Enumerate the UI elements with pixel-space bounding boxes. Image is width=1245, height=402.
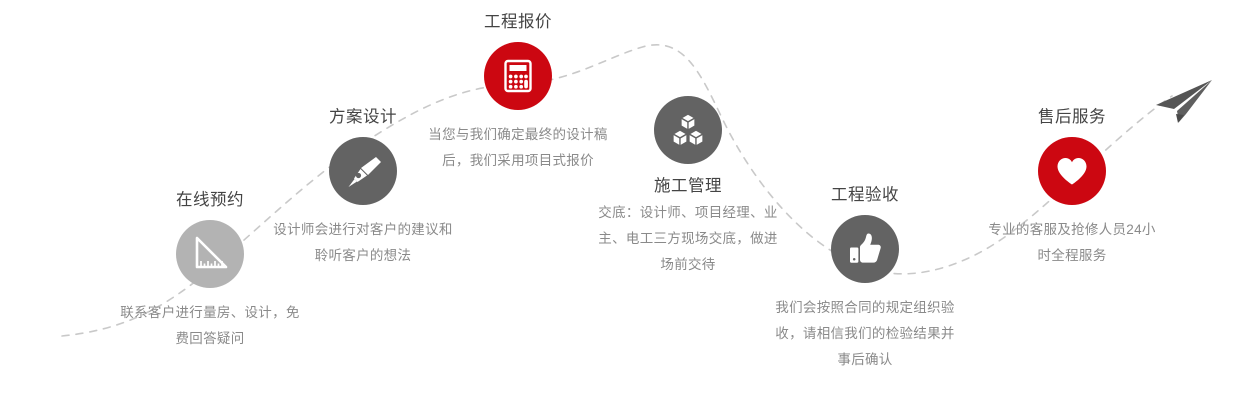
step-3-title: 工程报价 xyxy=(428,12,608,32)
step-2[interactable]: 方案设计 设计师会进行对客户的建议和聆听客户的想法 xyxy=(273,107,453,269)
step-1-icon-circle[interactable] xyxy=(176,220,244,288)
boxes-icon xyxy=(668,110,708,150)
step-5-title: 工程验收 xyxy=(775,185,955,205)
step-4-icon-circle[interactable] xyxy=(654,96,722,164)
step-5-desc: 我们会按照合同的规定组织验收，请相信我们的检验结果并事后确认 xyxy=(775,295,955,373)
step-3[interactable]: 工程报价 xyxy=(428,12,608,174)
step-5-icon-circle[interactable] xyxy=(831,215,899,283)
step-4-desc: 交底：设计师、项目经理、业主、电工三方现场交底，做进场前交待 xyxy=(598,200,778,278)
heart-icon xyxy=(1052,151,1092,191)
step-4[interactable]: 施工管理 交底：设计师、项目经理、业主、电工三方现场交底，做进场前交待 xyxy=(598,96,778,278)
step-4-title: 施工管理 xyxy=(598,176,778,196)
step-6[interactable]: 售后服务 专业的客服及抢修人员24小时全程服务 xyxy=(982,107,1162,269)
process-flow-diagram: 在线预约 联系客户进行量房、设计，免费回答疑问 方案设计 xyxy=(0,0,1245,402)
pen-nib-icon xyxy=(343,151,383,191)
calculator-icon xyxy=(498,56,538,96)
step-3-icon-circle[interactable] xyxy=(484,42,552,110)
thumbs-up-icon xyxy=(845,229,885,269)
ruler-triangle-icon xyxy=(190,234,230,274)
step-6-icon-circle[interactable] xyxy=(1038,137,1106,205)
step-2-title: 方案设计 xyxy=(273,107,453,127)
step-2-icon-circle[interactable] xyxy=(329,137,397,205)
step-2-desc: 设计师会进行对客户的建议和聆听客户的想法 xyxy=(273,217,453,269)
step-1-desc: 联系客户进行量房、设计，免费回答疑问 xyxy=(120,300,300,352)
step-6-desc: 专业的客服及抢修人员24小时全程服务 xyxy=(982,217,1162,269)
step-6-title: 售后服务 xyxy=(982,107,1162,127)
step-5[interactable]: 工程验收 我们会按照合同的规定组织验收，请相信我们的检验结果并事后确认 xyxy=(775,185,955,373)
step-3-desc: 当您与我们确定最终的设计稿后，我们采用项目式报价 xyxy=(428,122,608,174)
